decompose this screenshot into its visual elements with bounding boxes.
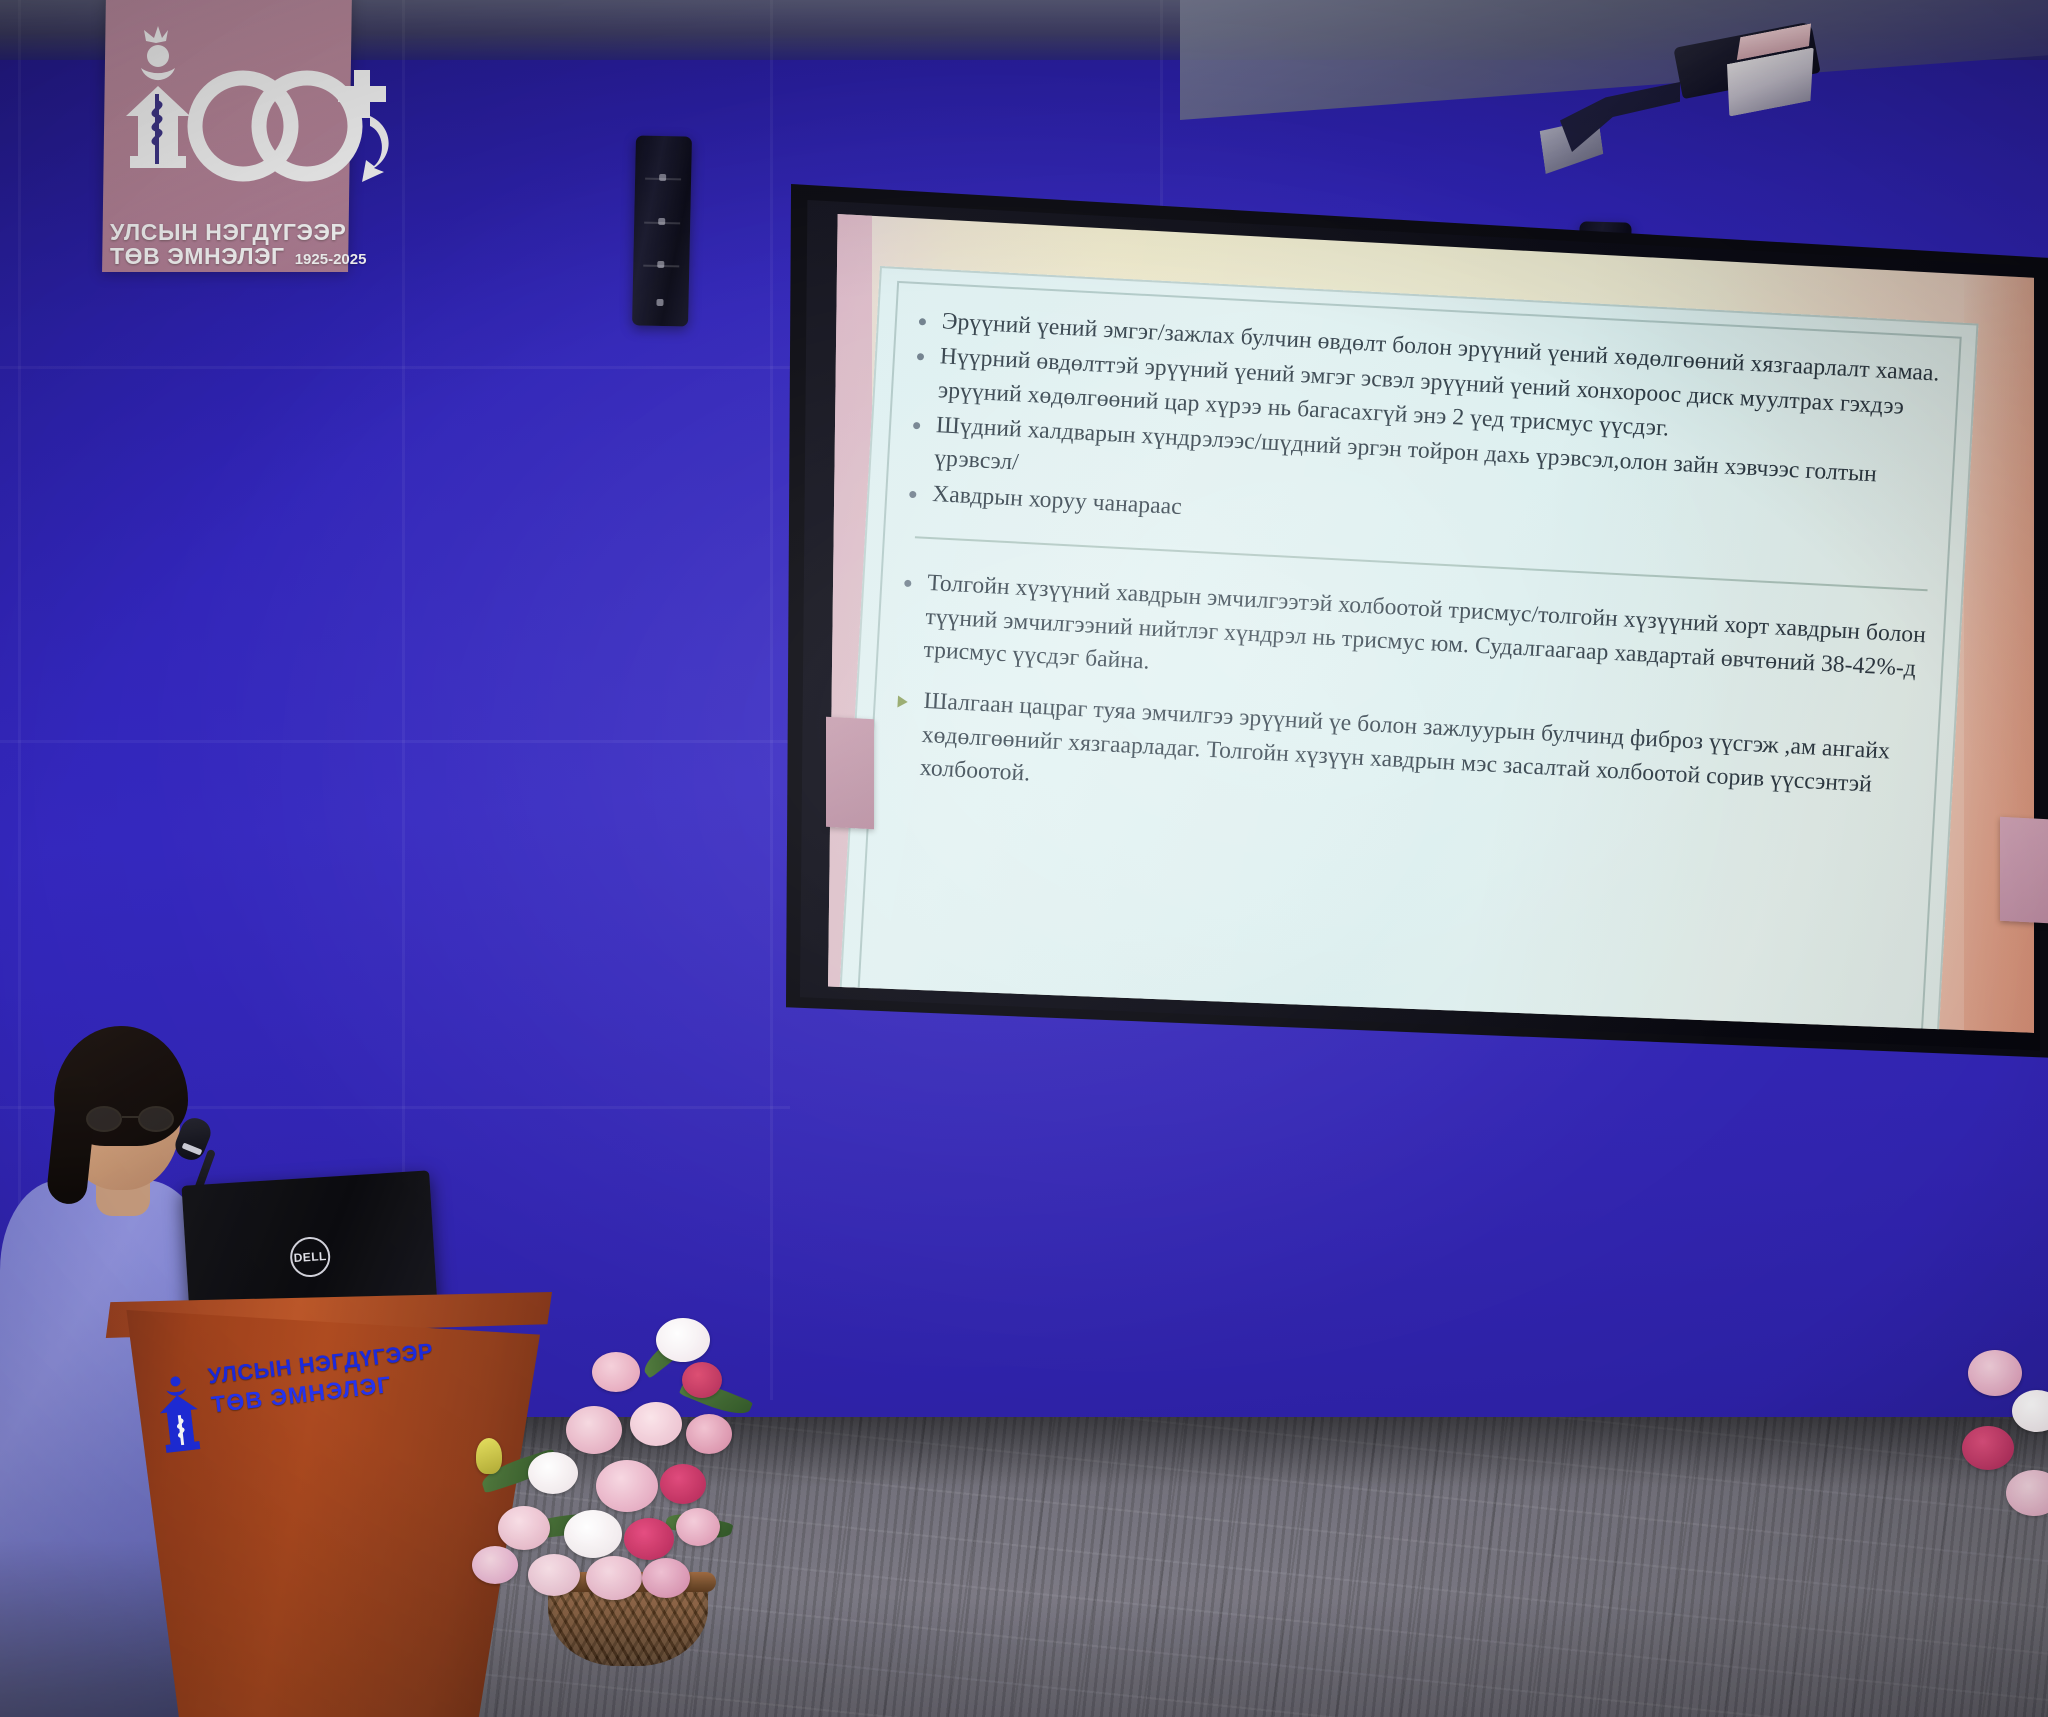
glasses-lens-right <box>138 1106 174 1132</box>
screen-tab-right <box>2000 817 2048 924</box>
presentation-hall-photo: УЛСЫН НЭГДҮГЭЭР ТӨВ ЭМНЭЛЭГ 1925-2025 <box>0 0 2048 1717</box>
rosebud-flower <box>682 1362 722 1398</box>
wall-seam <box>0 740 790 743</box>
bullet-dot-icon <box>919 318 926 325</box>
wall-seam <box>770 0 773 1400</box>
hospital-logo: УЛСЫН НЭГДҮГЭЭР ТӨВ ЭМНЭЛЭГ 1925-2025 <box>108 24 408 284</box>
flower-basket-arrangement <box>470 1310 800 1710</box>
flower-arrangement-right <box>1958 1330 2048 1550</box>
lily-flower <box>564 1510 622 1558</box>
banner-line2: ТӨВ ЭМНЭЛЭГ <box>110 244 285 268</box>
hospital-logo-text: УЛСЫН НЭГДҮГЭЭР ТӨВ ЭМНЭЛЭГ 1925-2025 <box>110 220 410 269</box>
rosebud-flower <box>660 1464 706 1504</box>
rosebud-flower <box>1962 1426 2014 1470</box>
carnation-flower <box>686 1414 732 1454</box>
lily-flower <box>2012 1390 2048 1432</box>
bullet-arrow-icon <box>897 696 908 709</box>
carnation-flower <box>498 1506 550 1550</box>
bullet-dot-icon <box>913 422 920 429</box>
carnation-flower <box>566 1406 622 1454</box>
lily-flower <box>656 1318 710 1362</box>
podium-hospital-icon <box>150 1371 209 1460</box>
carnation-flower <box>472 1546 518 1584</box>
banner-line1: УЛСЫН НЭГДҮГЭЭР <box>110 220 410 244</box>
dell-logo: DELL <box>289 1236 331 1278</box>
carnation-flower <box>2006 1470 2048 1516</box>
slide-bullet-list: Эрүүний үений эмгэг/зажлах булчин өвдөлт… <box>893 304 1949 839</box>
glasses-lens-left <box>86 1106 122 1132</box>
bullet-dot-icon <box>909 491 916 498</box>
wall-speaker-left <box>632 135 692 326</box>
carnation-flower <box>1968 1350 2022 1396</box>
carnation-flower <box>586 1556 642 1600</box>
carnation-flower <box>528 1554 580 1596</box>
podium-logo-text: УЛСЫН НЭГДҮГЭЭР ТӨВ ЭМНЭЛЭГ <box>207 1333 481 1418</box>
hospital-100-logo-icon <box>108 24 408 214</box>
bullet-dot-icon <box>904 580 911 587</box>
carnation-flower <box>596 1460 658 1512</box>
screen-tab-left <box>826 717 874 830</box>
carnation-flower <box>630 1402 682 1446</box>
wall-seam <box>0 366 790 369</box>
carnation-flower <box>676 1508 720 1546</box>
presenter-glasses <box>86 1106 180 1132</box>
bud-flower <box>476 1438 502 1474</box>
rosebud-flower <box>624 1518 674 1560</box>
bullet-dot-icon <box>917 353 924 360</box>
lily-flower <box>528 1452 578 1494</box>
carnation-flower <box>592 1352 640 1392</box>
carnation-flower <box>642 1558 690 1598</box>
banner-years: 1925-2025 <box>295 252 367 268</box>
